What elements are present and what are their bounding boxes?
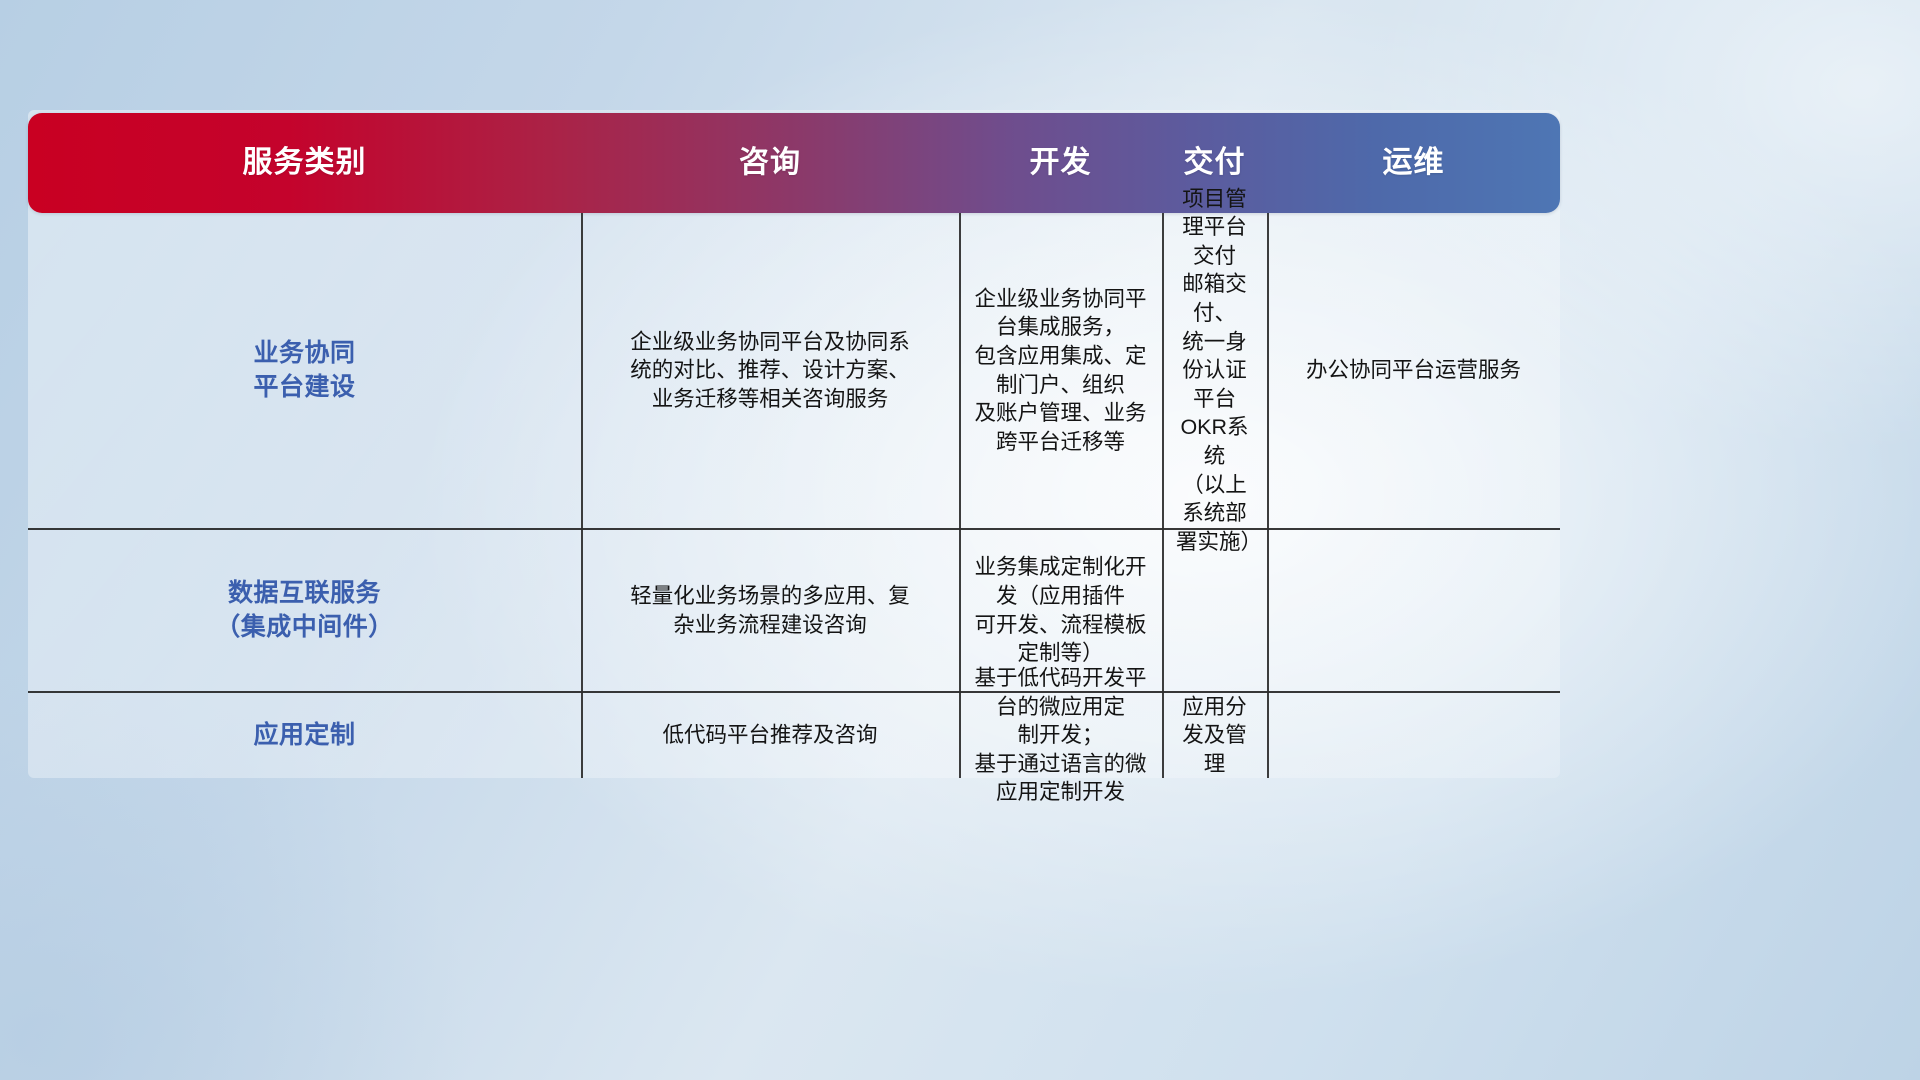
service-matrix-table: 服务类别 咨询 开发 交付 运维 业务协同 平台建设 企业级业务协同平台及协同系… xyxy=(28,110,1560,778)
cell-consulting: 低代码平台推荐及咨询 xyxy=(581,693,959,778)
cell-consulting: 轻量化业务场景的多应用、复 杂业务流程建设咨询 xyxy=(581,530,959,691)
cell-delivery: 应用分发及管理 xyxy=(1162,693,1267,778)
table-row: 数据互联服务 （集成中间件） 轻量化业务场景的多应用、复 杂业务流程建设咨询 业… xyxy=(28,530,1560,691)
row-divider xyxy=(28,691,1560,693)
row-category-label: 数据互联服务 （集成中间件） xyxy=(28,530,581,691)
cell-consulting: 企业级业务协同平台及协同系 统的对比、推荐、设计方案、 业务迁移等相关咨询服务 xyxy=(581,213,959,528)
column-header-operations: 运维 xyxy=(1267,148,1560,178)
table-row: 业务协同 平台建设 企业级业务协同平台及协同系 统的对比、推荐、设计方案、 业务… xyxy=(28,213,1560,528)
cell-operations xyxy=(1267,693,1560,778)
cell-delivery: 项目管理平台交付 邮箱交付、 统一身份认证平台 OKR系统 （以上系统部署实施） xyxy=(1162,213,1267,528)
table-row: 应用定制 低代码平台推荐及咨询 基于低代码开发平台的微应用定 制开发； 基于通过… xyxy=(28,693,1560,778)
row-divider xyxy=(28,528,1560,530)
slide-canvas: 服务类别 咨询 开发 交付 运维 业务协同 平台建设 企业级业务协同平台及协同系… xyxy=(0,0,1920,1080)
cell-development: 企业级业务协同平台集成服务， 包含应用集成、定制门户、组织 及账户管理、业务跨平… xyxy=(959,213,1162,528)
column-divider xyxy=(959,213,961,778)
cell-development: 基于低代码开发平台的微应用定 制开发； 基于通过语言的微应用定制开发 xyxy=(959,693,1162,778)
column-divider xyxy=(1267,213,1269,778)
cell-operations xyxy=(1267,530,1560,691)
column-divider xyxy=(581,213,583,778)
column-header-development: 开发 xyxy=(959,148,1162,178)
row-category-label: 应用定制 xyxy=(28,693,581,778)
table-body: 业务协同 平台建设 企业级业务协同平台及协同系 统的对比、推荐、设计方案、 业务… xyxy=(28,213,1560,778)
column-header-delivery: 交付 xyxy=(1162,148,1267,178)
column-header-service-category: 服务类别 xyxy=(28,148,581,178)
cell-delivery xyxy=(1162,530,1267,691)
table-header-row: 服务类别 咨询 开发 交付 运维 xyxy=(28,113,1560,213)
column-divider xyxy=(1162,213,1164,778)
row-category-label: 业务协同 平台建设 xyxy=(28,213,581,528)
cell-operations: 办公协同平台运营服务 xyxy=(1267,213,1560,528)
column-header-consulting: 咨询 xyxy=(581,148,959,178)
